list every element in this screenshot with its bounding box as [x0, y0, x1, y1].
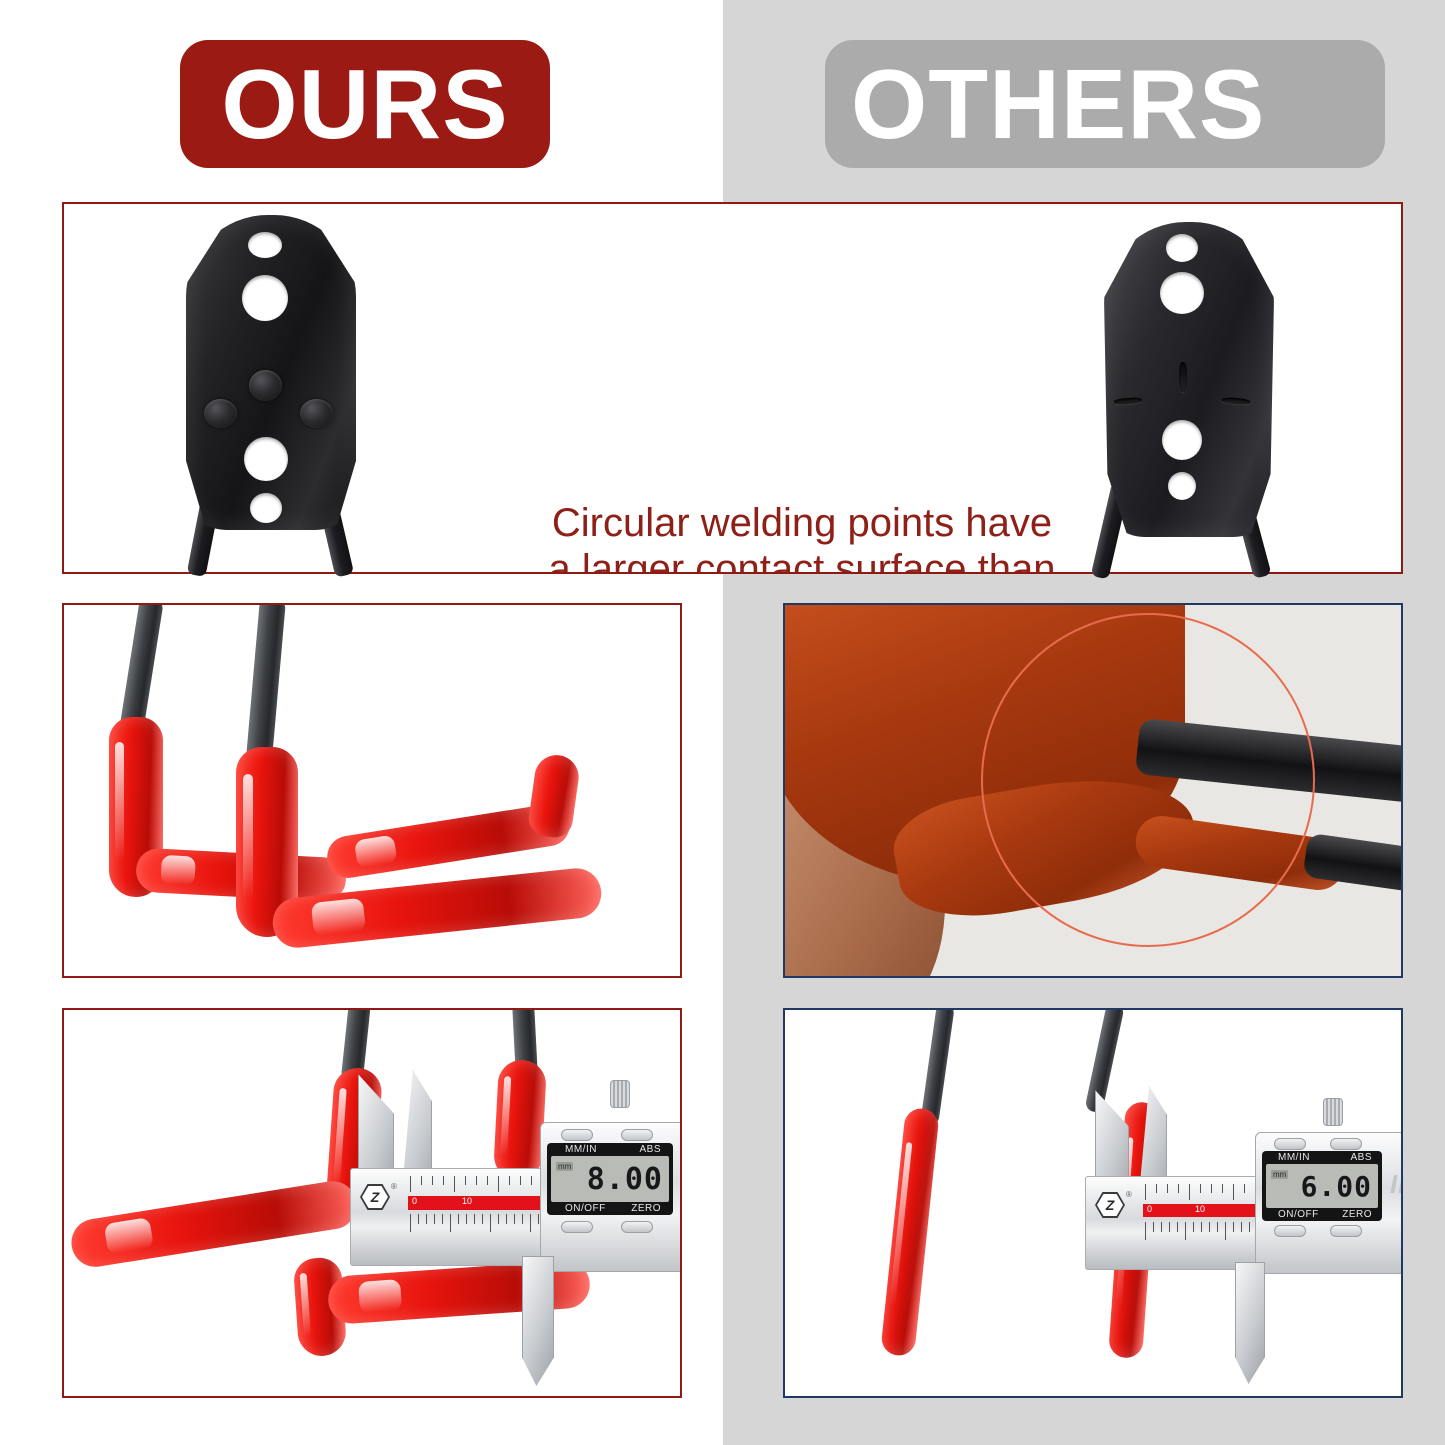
others-measure-hook-left — [880, 1107, 940, 1357]
caliper-thumb-screw[interactable] — [610, 1080, 630, 1108]
plate-hole-lower-large — [244, 437, 288, 481]
caliper-button-mm-in[interactable] — [561, 1129, 593, 1141]
caption-line-1: Circular welding points have — [502, 500, 1102, 546]
others-thickness-panel: Z ® 0 10 — [783, 1008, 1403, 1398]
hook-far-tip — [527, 752, 582, 839]
caliper-ip-rating-text: IP54 — [1390, 1169, 1403, 1200]
ours-mounting-plate — [172, 215, 372, 570]
plate-hole-upper-large — [242, 275, 288, 321]
caliper-brand-letter: Z — [371, 1189, 380, 1205]
caliper-display-head: MM/IN ABS mm 8.00 ON/OFF ZERO — [540, 1122, 682, 1272]
caliper-lower-ticks — [410, 1214, 560, 1232]
others-caliper-reading-value: 6.00 — [1301, 1170, 1372, 1203]
lcd-label-mm-in: MM/IN — [565, 1144, 597, 1155]
caliper-upper-ticks — [410, 1176, 540, 1192]
others-badge: OTHERS — [825, 40, 1385, 168]
others-caliper-display-head: MM/IN ABS mm 6.00 ON/OFF ZERO IP54 — [1255, 1132, 1403, 1274]
others-caliper-lcd-bezel: MM/IN ABS mm 6.00 ON/OFF ZERO — [1262, 1151, 1382, 1221]
others-plate-hole-top — [1166, 234, 1198, 262]
lcd-unit-label: mm — [556, 1162, 573, 1171]
others-caliper-registered-symbol: ® — [1126, 1190, 1132, 1199]
caliper-button-on-off[interactable] — [561, 1221, 593, 1233]
caliper-button-zero[interactable] — [621, 1221, 653, 1233]
others-caliper-thumb-screw[interactable] — [1323, 1098, 1343, 1126]
others-lcd-label-abs: ABS — [1350, 1152, 1372, 1163]
others-caliper-button-zero[interactable] — [1330, 1225, 1362, 1237]
coating-peel-photograph — [785, 605, 1401, 976]
weld-point-left — [204, 399, 237, 428]
weld-point-center — [249, 370, 282, 401]
lcd-label-zero: ZERO — [631, 1203, 661, 1214]
others-coating-defect-panel — [783, 603, 1403, 978]
others-plate-hole-bottom — [1168, 472, 1196, 500]
others-plate-hole-upper — [1160, 272, 1204, 314]
defect-circle-annotation — [981, 613, 1315, 947]
oval-weld-point-left — [1114, 397, 1142, 405]
oval-weld-point-right — [1222, 397, 1250, 405]
ours-thickness-panel: Z ® 0 10 — [62, 1008, 682, 1398]
others-badge-label: OTHERS — [851, 48, 1265, 161]
others-plate-body — [1104, 222, 1274, 537]
ours-hook-closeup-panel — [62, 603, 682, 978]
others-lcd-label-zero: ZERO — [1342, 1209, 1372, 1220]
ours-badge: OURS — [180, 40, 550, 168]
caption-line-2: a larger contact surface than — [502, 546, 1102, 574]
caliper-lcd-screen: mm 8.00 — [551, 1156, 669, 1202]
scale-tick-10: 10 — [462, 1196, 472, 1206]
ours-digital-caliper: Z ® 0 10 — [346, 1050, 682, 1380]
others-scale-tick-10: 10 — [1195, 1204, 1205, 1214]
welding-points-caption: Circular welding points have a larger co… — [502, 500, 1102, 574]
others-lcd-label-mm-in: MM/IN — [1278, 1152, 1310, 1163]
others-caliper-button-on-off[interactable] — [1274, 1225, 1306, 1237]
plate-hole-bottom-small — [250, 493, 282, 523]
others-caliper-brand-letter: Z — [1106, 1197, 1115, 1213]
others-caliper-lcd-screen: mm 6.00 — [1266, 1164, 1378, 1208]
caliper-lower-jaw — [522, 1256, 554, 1386]
lcd-label-abs: ABS — [639, 1144, 661, 1155]
plate-hole-top-small — [248, 232, 282, 258]
scale-tick-0: 0 — [412, 1196, 417, 1206]
others-digital-caliper: Z ® 0 10 — [1075, 1080, 1403, 1398]
caliper-lcd-bezel: MM/IN ABS mm 8.00 ON/OFF ZERO — [547, 1143, 673, 1215]
others-caliper-button-mm-in[interactable] — [1274, 1138, 1306, 1150]
others-scale-tick-0: 0 — [1147, 1204, 1152, 1214]
comparison-infographic: OURS OTHERS Circular welding points have… — [0, 0, 1445, 1445]
caliper-registered-symbol: ® — [391, 1182, 397, 1191]
others-lcd-label-on-off: ON/OFF — [1278, 1209, 1319, 1220]
caliper-red-scale-band: 0 10 — [408, 1196, 554, 1210]
others-mounting-plate — [1090, 222, 1275, 572]
oval-weld-point-center — [1179, 362, 1187, 392]
lcd-label-on-off: ON/OFF — [565, 1203, 606, 1214]
ours-measure-hook-arm — [68, 1178, 360, 1270]
others-plate-hole-lower — [1162, 420, 1202, 460]
others-lcd-unit-label: mm — [1271, 1170, 1288, 1179]
weld-point-right — [300, 399, 333, 428]
others-caliper-lower-jaw — [1235, 1262, 1265, 1384]
ours-badge-label: OURS — [221, 48, 508, 161]
others-caliper-button-abs[interactable] — [1330, 1138, 1362, 1150]
plate-body — [186, 215, 356, 530]
caliper-reading-value: 8.00 — [587, 1162, 663, 1197]
caliper-button-abs[interactable] — [621, 1129, 653, 1141]
